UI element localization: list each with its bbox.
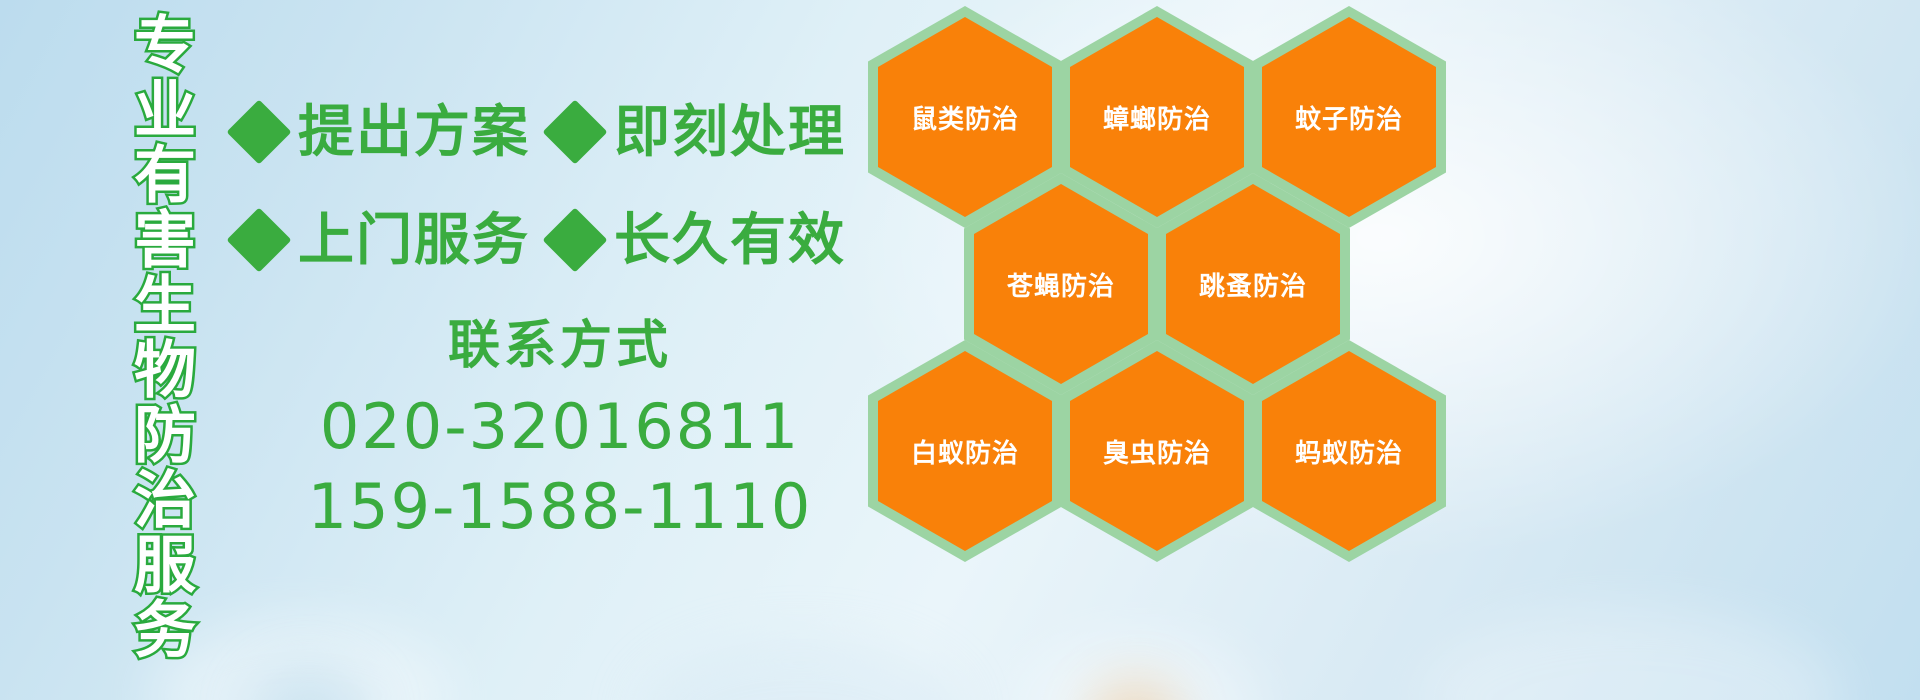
contact-block: 联系方式 020-32016811 159-1588-1110 (300, 318, 820, 546)
diamond-icon (542, 99, 607, 164)
diamond-icon (226, 99, 291, 164)
hex-inner: 苍蝇防治 (974, 184, 1148, 384)
hex-label: 臭虫防治 (1103, 433, 1211, 470)
hex-label: 蟑螂防治 (1103, 99, 1211, 136)
feature-label: 长久有效 (614, 212, 846, 268)
feature-list: 提出方案 即刻处理 上门服务 长久有效 (236, 78, 876, 294)
feature-item: 即刻处理 (552, 104, 846, 160)
feature-item: 长久有效 (552, 212, 846, 268)
hex-inner: 白蚁防治 (878, 351, 1052, 551)
service-hex-grid: 鼠类防治 蟑螂防治 蚊子防治 苍蝇防治 跳蚤防治 白蚁防治 (862, 0, 1462, 700)
feature-label: 提出方案 (298, 104, 530, 160)
vertical-headline: 专业有害生物防治服务 (104, 12, 190, 662)
hex-label: 鼠类防治 (911, 99, 1019, 136)
hex-label: 蚂蚁防治 (1295, 433, 1403, 470)
feature-item: 上门服务 (236, 212, 530, 268)
hex-inner: 蚊子防治 (1262, 17, 1436, 217)
hex-inner: 蟑螂防治 (1070, 17, 1244, 217)
phone-number-landline[interactable]: 020-32016811 (300, 387, 820, 466)
phone-number-mobile[interactable]: 159-1588-1110 (300, 467, 820, 546)
background-blob (1420, 610, 1840, 700)
hex-inner: 跳蚤防治 (1166, 184, 1340, 384)
diamond-icon (226, 207, 291, 272)
background-blob (150, 620, 450, 700)
feature-label: 上门服务 (298, 212, 530, 268)
hex-inner: 蚂蚁防治 (1262, 351, 1436, 551)
feature-row: 上门服务 长久有效 (236, 186, 876, 294)
hex-inner: 臭虫防治 (1070, 351, 1244, 551)
hex-label: 白蚁防治 (911, 433, 1019, 470)
contact-heading: 联系方式 (300, 318, 820, 375)
hex-inner: 鼠类防治 (878, 17, 1052, 217)
feature-label: 即刻处理 (614, 104, 846, 160)
feature-row: 提出方案 即刻处理 (236, 78, 876, 186)
feature-item: 提出方案 (236, 104, 530, 160)
diamond-icon (542, 207, 607, 272)
hex-label: 蚊子防治 (1295, 99, 1403, 136)
promo-banner: 专业有害生物防治服务 提出方案 即刻处理 上门服务 长久有效 联系方式 (0, 0, 1920, 700)
hex-label: 苍蝇防治 (1007, 266, 1115, 303)
hex-label: 跳蚤防治 (1199, 266, 1307, 303)
background-blob (250, 668, 370, 700)
